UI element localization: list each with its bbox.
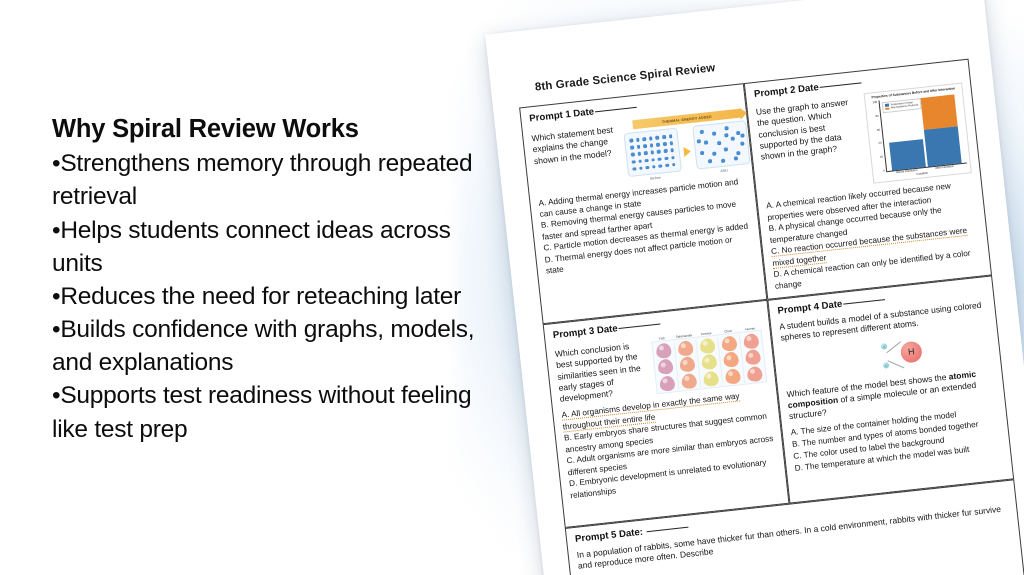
particle-dot: [632, 167, 636, 171]
bar-segment-new-substance: [920, 95, 957, 130]
particle-dot: [649, 136, 653, 140]
particle-dot: [717, 141, 721, 145]
embryo-icon: [655, 342, 672, 359]
particle-dot: [670, 148, 674, 152]
prompt-grid: Prompt 1 Date Which statement best expla…: [519, 59, 1024, 575]
page-title: Why Spiral Review Works: [52, 113, 502, 146]
embryo-icon: [681, 372, 698, 389]
list-item: •Helps students connect ideas across uni…: [52, 214, 502, 280]
hydrogen-atom-icon: H: [900, 340, 923, 363]
chart-plot-area: Temperature Change New Substance Produce…: [879, 92, 966, 172]
embryo-icon: [743, 333, 760, 350]
prompt-3-choices: A. All organisms develop in exactly the …: [561, 388, 778, 501]
embryo-icon: [703, 370, 720, 387]
prompt-3-question: Which conclusion is best supported by th…: [554, 336, 652, 405]
embryo-icon: [657, 358, 674, 375]
date-blank-line[interactable]: [820, 82, 862, 88]
list-item: •Reduces the need for reteaching later: [52, 280, 502, 313]
embryo-icon: [701, 354, 718, 371]
list-item: •Supports test readiness without feeling…: [52, 379, 502, 445]
particle-dot: [669, 134, 673, 138]
prompt-5-heading-label: Prompt 5 Date:: [575, 526, 647, 545]
particle-dot: [724, 126, 728, 130]
particle-dot: [672, 163, 676, 167]
prompt-2-cell[interactable]: Prompt 2 Date Use the graph to answer th…: [744, 59, 992, 300]
particle-dot: [638, 159, 642, 163]
date-blank-line[interactable]: [843, 299, 885, 305]
embryo-column-human: [740, 332, 766, 382]
particle-dot: [650, 143, 654, 147]
list-item: •Strengthens memory through repeated ret…: [52, 147, 502, 213]
particle-dot: [651, 158, 655, 162]
particle-dot: [736, 131, 740, 135]
embryo-icon: [745, 349, 762, 366]
prompt-2-heading-label: Prompt 2 Date: [753, 82, 819, 100]
particle-dot: [636, 138, 640, 142]
solid-state-box: [624, 128, 682, 178]
particle-dot: [708, 159, 712, 163]
list-item: •Builds confidence with graphs, models, …: [52, 313, 502, 379]
y-tick: 40: [878, 142, 881, 145]
particle-dot: [631, 160, 635, 164]
particle-dot: [663, 142, 667, 146]
particle-dot: [664, 156, 668, 160]
embryo-icon: [725, 368, 742, 385]
particle-dot: [736, 151, 740, 155]
date-blank-line[interactable]: [647, 527, 689, 533]
prompt-1-figure: THERMAL ENERGY ADDED Before: [622, 106, 751, 182]
prompt-2-choices: A. A chemical reaction likely occurred b…: [766, 178, 983, 291]
y-tick: 20: [880, 156, 883, 159]
particle-dot: [721, 159, 725, 163]
particle-dot: [704, 140, 708, 144]
particle-dot: [671, 156, 675, 160]
gas-state-box: [692, 120, 750, 170]
particle-dot: [700, 130, 704, 134]
thermal-banner-label: THERMAL ENERGY ADDED: [662, 114, 712, 123]
embryo-icon: [659, 375, 676, 392]
particle-dot: [700, 151, 704, 155]
bar-segment-temperature: [924, 126, 962, 166]
particle-dot: [731, 136, 735, 140]
particle-dot: [724, 147, 728, 151]
prompt-3-heading-label: Prompt 3 Date: [552, 323, 618, 341]
y-tick: 80: [875, 115, 878, 118]
particle-dot: [643, 144, 647, 148]
particle-dot: [665, 163, 669, 167]
slide-canvas: Why Spiral Review Works •Strengthens mem…: [0, 0, 1024, 575]
particle-dot: [639, 166, 643, 170]
particle-dot: [630, 146, 634, 150]
prompt-1-cell[interactable]: Prompt 1 Date Which statement best expla…: [519, 83, 767, 324]
worksheet-page: 8th Grade Science Spiral Review Prompt 1…: [485, 0, 1024, 575]
bar-after-interaction: [920, 92, 961, 166]
particle-dot: [712, 152, 716, 156]
bond-line: [887, 360, 904, 368]
prompt-1-choices: A. Adding thermal energy increases parti…: [538, 175, 753, 277]
date-blank-line[interactable]: [619, 324, 661, 330]
particle-dot: [664, 149, 668, 153]
particle-dot: [740, 141, 744, 145]
y-tick: 0: [883, 170, 885, 173]
particle-dot: [642, 137, 646, 141]
particle-dot: [740, 133, 744, 137]
particle-dot: [658, 164, 662, 168]
arrow-right-icon: [683, 146, 691, 157]
embryo-icon: [721, 335, 738, 352]
embryo-comparison-figure: Fish Salamander Tortoise Chick Human: [651, 324, 768, 395]
embryo-icon: [677, 340, 694, 357]
oxygen-atom-icon: o: [881, 343, 888, 350]
particle-dot: [636, 145, 640, 149]
particle-dot: [655, 136, 659, 140]
y-tick: 100: [872, 101, 877, 104]
embryo-icon: [699, 337, 716, 354]
particle-dot: [645, 158, 649, 162]
prompt-3-cell[interactable]: Prompt 3 Date Which conclusion is best s…: [543, 300, 790, 528]
prompt-4-heading-label: Prompt 4 Date: [777, 299, 843, 317]
oxygen-atom-icon: o: [883, 362, 890, 369]
particle-dot: [662, 135, 666, 139]
prompt-4-cell[interactable]: Prompt 4 Date A student builds a model o…: [767, 275, 1014, 503]
bar-segment-temperature: [889, 139, 926, 171]
embryo-icon: [723, 351, 740, 368]
particle-dot: [637, 152, 641, 156]
particle-dot: [629, 138, 633, 142]
y-tick: 60: [877, 128, 880, 131]
embryo-icon: [679, 356, 696, 373]
particle-dot: [669, 141, 673, 145]
particle-dot: [645, 166, 649, 170]
worksheet-preview[interactable]: 8th Grade Science Spiral Review Prompt 1…: [485, 0, 1024, 575]
prompt-1-heading-label: Prompt 1 Date: [529, 106, 595, 124]
particle-dot: [631, 153, 635, 157]
particle-dot: [697, 139, 701, 143]
benefits-list: •Strengthens memory through repeated ret…: [52, 147, 502, 446]
particle-dot: [734, 156, 738, 160]
particle-dot: [657, 150, 661, 154]
prompt-2-question: Use the graph to answer the question. Wh…: [755, 94, 868, 196]
prompt-1-question: Which statement best explains the change…: [531, 120, 623, 192]
particle-dot: [652, 165, 656, 169]
particle-dot: [724, 133, 728, 137]
particle-dot: [656, 143, 660, 147]
bond-line: [886, 341, 901, 353]
particle-dot: [712, 131, 716, 135]
properties-bar-chart: Properties of Substances Before and Afte…: [864, 83, 972, 185]
legend-swatch-icon: [885, 107, 889, 110]
slide-text-block: Why Spiral Review Works •Strengthens mem…: [52, 113, 502, 446]
particle-dot: [658, 157, 662, 161]
particle-dot: [650, 151, 654, 155]
particle-dot: [644, 151, 648, 155]
date-blank-line[interactable]: [595, 107, 637, 113]
embryo-icon: [746, 365, 763, 382]
